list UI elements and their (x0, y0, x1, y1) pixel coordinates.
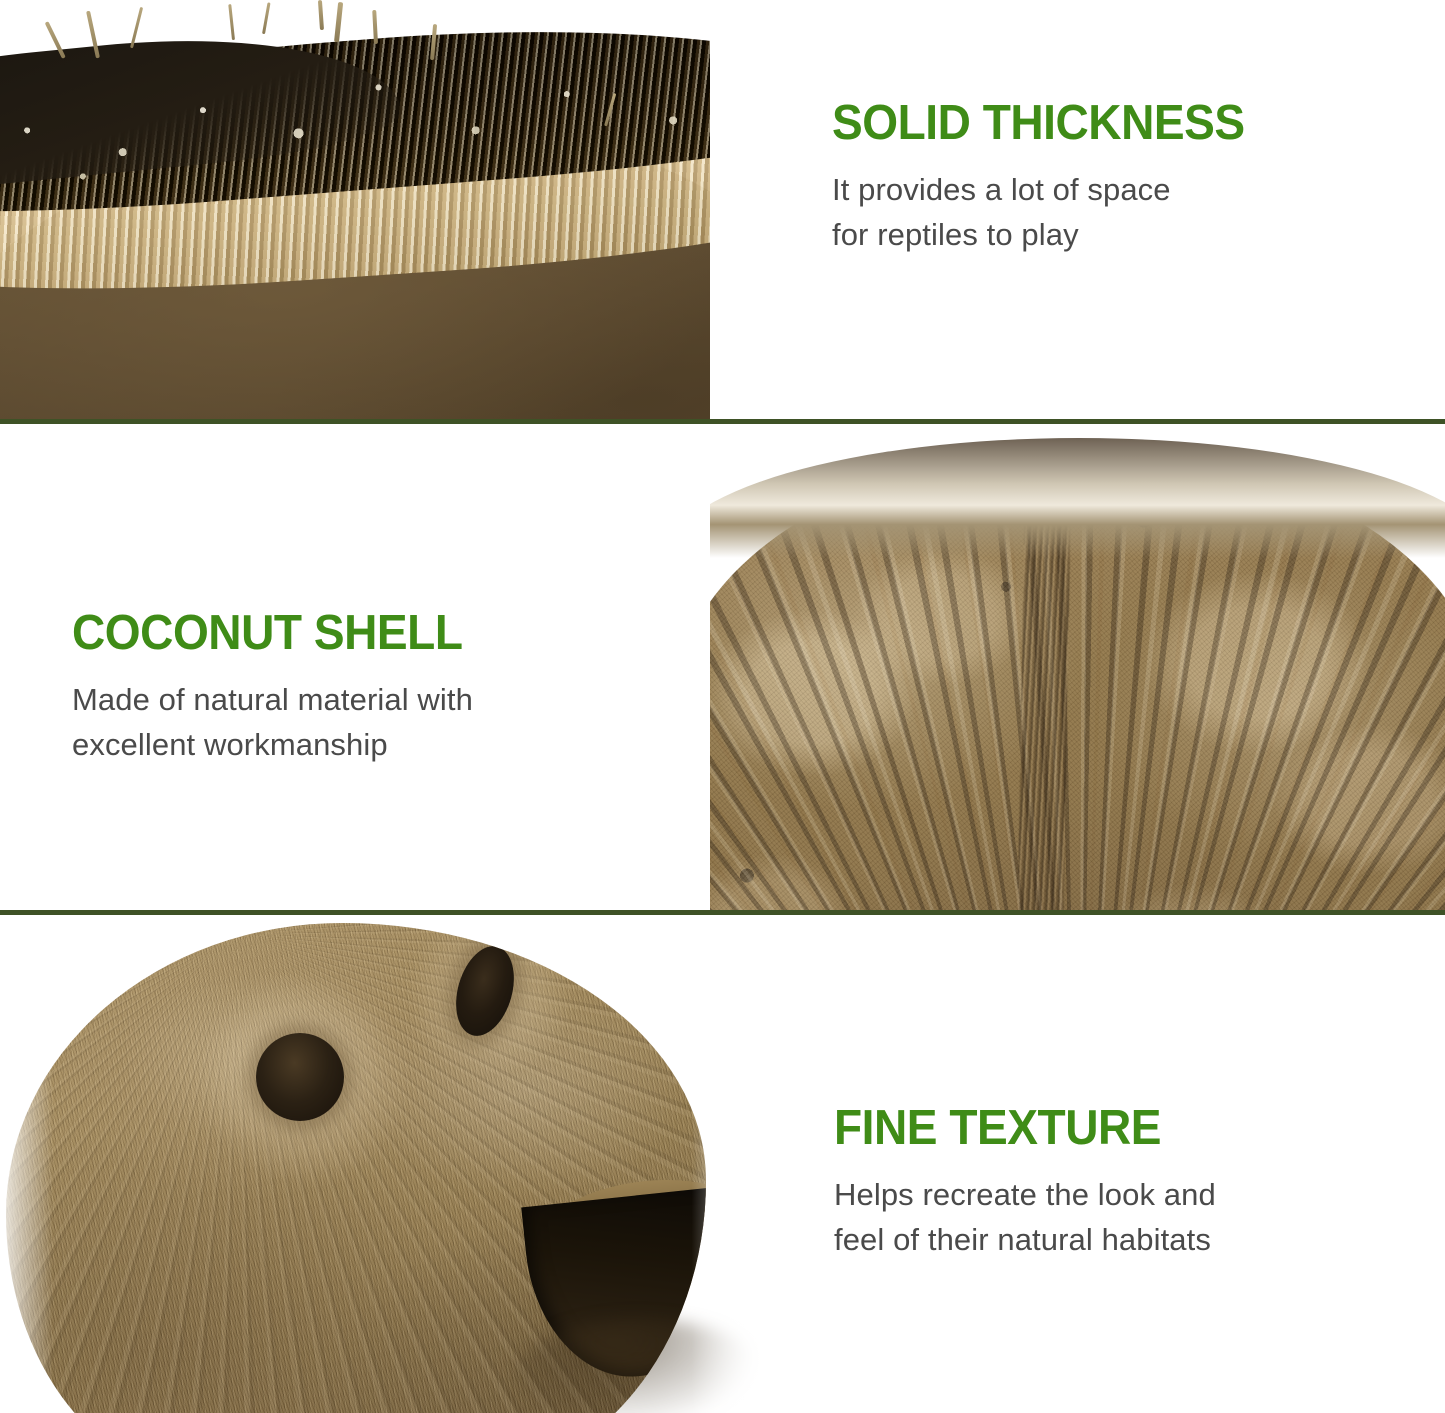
husk-whisker (262, 2, 271, 34)
feature-heading: SOLID THICKNESS (832, 98, 1245, 149)
infographic-sheet: SOLID THICKNESS It provides a lot of spa… (0, 0, 1445, 1413)
feature-heading: COCONUT SHELL (72, 608, 463, 659)
panel-divider (0, 419, 1445, 424)
husk-whisker (318, 0, 324, 30)
coconut-hide-photo (0, 915, 760, 1413)
feature-body: It provides a lot of space for reptiles … (832, 167, 1271, 258)
panel-divider (0, 910, 1445, 915)
feature-body: Helps recreate the look and feel of thei… (834, 1172, 1216, 1263)
feature-text-fine-texture: FINE TEXTURE Helps recreate the look and… (834, 1103, 1216, 1262)
feature-text-coconut-shell: COCONUT SHELL Made of natural material w… (72, 608, 487, 767)
feature-body: Made of natural material with excellent … (72, 677, 487, 768)
feature-heading: FINE TEXTURE (834, 1103, 1193, 1154)
husk-whisker (228, 4, 235, 40)
husk-whisker (372, 10, 378, 44)
coconut-germination-pore (256, 1033, 344, 1121)
coconut-shell-inner-photo (710, 424, 1445, 910)
coconut-shell-edge-photo (0, 0, 710, 419)
shell-edge-stage (0, 0, 710, 419)
husk-whisker (334, 2, 343, 42)
feature-text-solid-thickness: SOLID THICKNESS It provides a lot of spa… (832, 98, 1271, 257)
